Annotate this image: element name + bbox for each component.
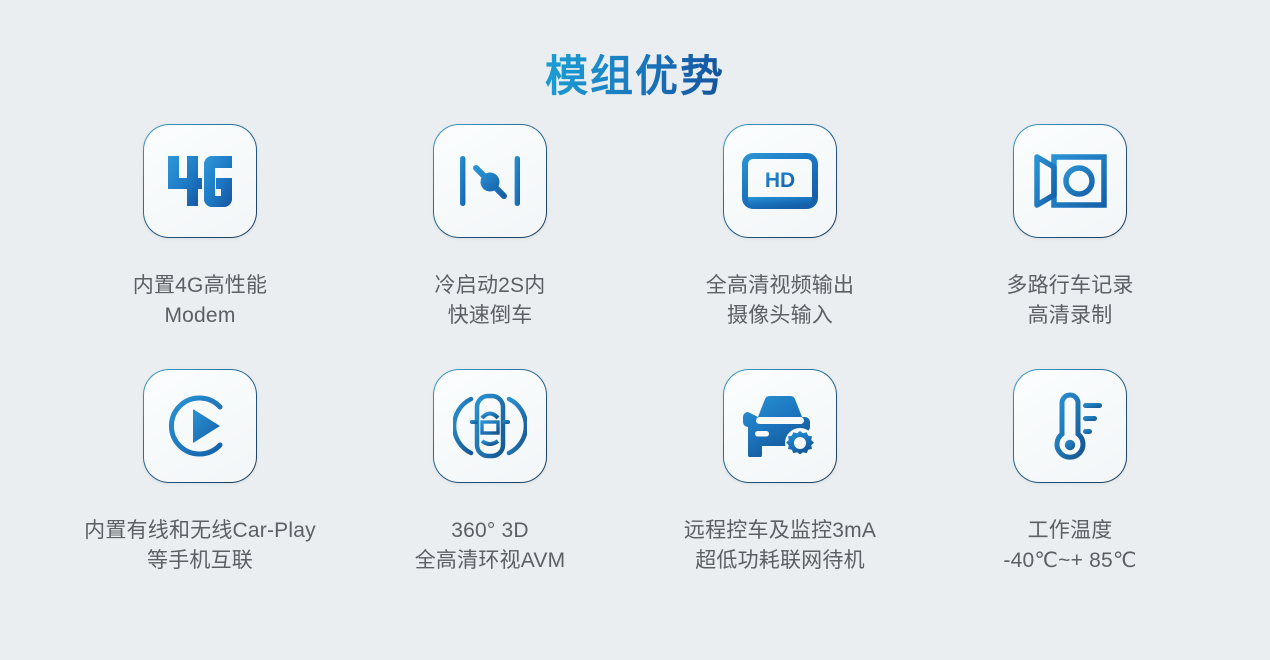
feature-icon-card <box>143 369 257 483</box>
feature-caption: 内置有线和无线Car-Play等手机互联 <box>80 516 320 577</box>
feature-caption: 工作温度 -40℃~+ 85℃ <box>940 516 1200 577</box>
feature-caption: 全高清视频输出 摄像头输入 <box>650 271 910 332</box>
feature-icon-card <box>433 369 547 483</box>
thermometer-icon <box>1014 370 1125 481</box>
feature-caption: 冷启动2S内 快速倒车 <box>360 271 620 332</box>
feature-icon-card <box>143 124 257 238</box>
feature-caption: 360° 3D 全高清环视AVM <box>360 516 620 577</box>
feature-icon-card <box>1013 369 1127 483</box>
avm-360-icon <box>434 370 545 481</box>
page-title-container: 模组优势 <box>545 48 725 108</box>
feature-icon-card: HD <box>723 124 837 238</box>
feature-item-4g-modem: 内置4G高性能 Modem <box>55 124 345 369</box>
feature-item-operating-temperature: 工作温度 -40℃~+ 85℃ <box>925 369 1215 614</box>
feature-item-carplay: 内置有线和无线Car-Play等手机互联 <box>55 369 345 614</box>
hd-display-icon: HD <box>724 125 835 236</box>
feature-icon-card <box>1013 124 1127 238</box>
module-advantages-page: 模组优势 <box>0 0 1270 660</box>
svg-text:HD: HD <box>765 169 795 192</box>
4g-modem-icon <box>144 125 255 236</box>
feature-item-dashcam: 多路行车记录 高清录制 <box>925 124 1215 369</box>
page-title: 模组优势 <box>545 54 725 101</box>
feature-caption: 内置4G高性能 Modem <box>70 271 330 332</box>
feature-item-remote-control: 远程控车及监控3mA 超低功耗联网待机 <box>635 369 925 614</box>
feature-item-avm-360: 360° 3D 全高清环视AVM <box>345 369 635 614</box>
carplay-icon <box>144 370 255 481</box>
dashcam-video-icon <box>1014 125 1125 236</box>
feature-caption: 远程控车及监控3mA 超低功耗联网待机 <box>650 516 910 577</box>
feature-icon-card <box>433 124 547 238</box>
feature-item-fast-boot: 冷启动2S内 快速倒车 <box>345 124 635 369</box>
feature-item-hd-video: HD 全高清视频输出 摄像头输入 <box>635 124 925 369</box>
remote-car-control-icon <box>724 370 835 481</box>
feature-caption: 多路行车记录 高清录制 <box>940 271 1200 332</box>
feature-grid: 内置4G高性能 Modem <box>55 124 1215 614</box>
fast-boot-reverse-icon <box>434 125 545 236</box>
feature-icon-card <box>723 369 837 483</box>
